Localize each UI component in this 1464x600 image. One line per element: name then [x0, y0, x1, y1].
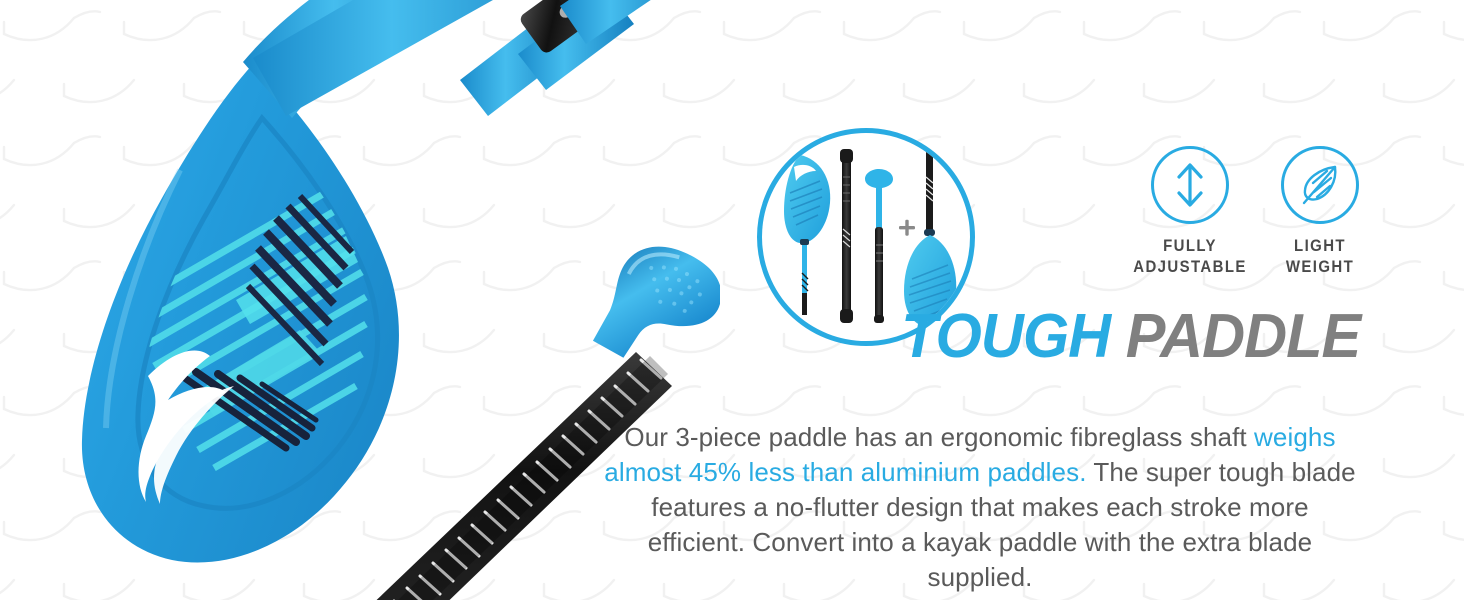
feature-icon-circle: [1281, 146, 1359, 224]
component-shaft-lower: [840, 149, 853, 323]
paddle-blade: [82, 64, 399, 563]
brand-swoosh-logo: [139, 350, 235, 504]
upper-shaft: [460, 0, 634, 116]
t-grip-handle: [591, 234, 720, 379]
feature-label: LIGHT WEIGHT: [1263, 235, 1377, 277]
top-shaft: [560, 0, 686, 44]
page-title: TOUGH PADDLE: [901, 306, 1360, 368]
headline-word-paddle: PADDLE: [1125, 302, 1360, 371]
feature-light-weight: LIGHT WEIGHT: [1255, 146, 1385, 277]
double-arrow-vertical-icon: [1168, 160, 1212, 210]
promo-banner: FULLY ADJUSTABLE LIGHT WEIGHT TOUGH PADD…: [0, 0, 1464, 600]
component-shaft-with-grip: [865, 169, 893, 323]
component-extra-kayak-blade: [904, 149, 956, 327]
component-sup-blade: [784, 155, 830, 315]
plus-symbol: [899, 220, 915, 236]
blade-stripe-graphics-navy: [176, 196, 352, 448]
blade-stripe-graphics-cyan: [140, 190, 366, 468]
feather-icon: [1297, 161, 1343, 209]
blade-shaft: [243, 0, 600, 118]
headline-word-tough: TOUGH: [901, 302, 1110, 371]
feature-label: FULLY ADJUSTABLE: [1133, 235, 1247, 277]
shaft-collar: [516, 0, 604, 58]
feature-icon-circle: [1151, 146, 1229, 224]
product-description: Our 3-piece paddle has an ergonomic fibr…: [600, 420, 1360, 595]
feature-fully-adjustable: FULLY ADJUSTABLE: [1125, 146, 1255, 277]
description-part-1: Our 3-piece paddle has an ergonomic fibr…: [624, 422, 1254, 452]
